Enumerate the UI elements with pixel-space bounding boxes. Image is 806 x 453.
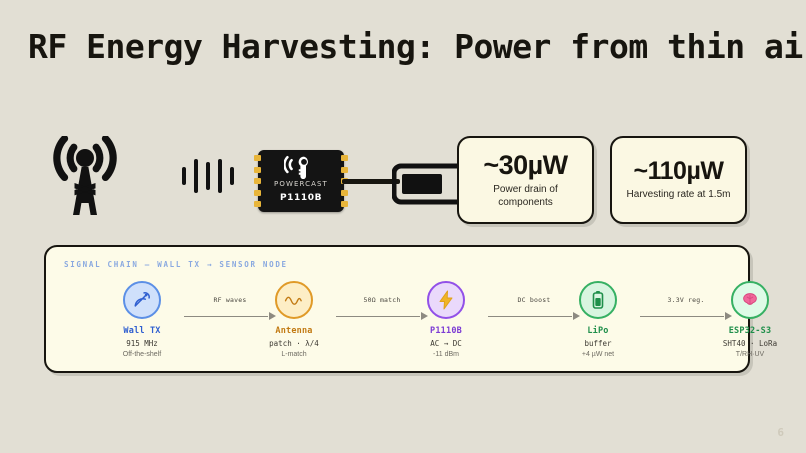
stat-value: ~30µW [483,151,567,179]
powercast-chip: POWERCAST P1110B [258,150,344,212]
hero-illustration: POWERCAST P1110B [40,128,450,238]
signal-chain-panel: SIGNAL CHAIN — WALL TX → SENSOR NODE Wal… [44,245,750,373]
chain-node-sub1: 915 MHz [90,339,194,348]
chain-node-sub2: Off-the-shelf [90,351,194,358]
stat-caption: Power drain of components [469,184,582,209]
chain-node-name: Antenna [242,326,346,336]
chip-brand-label: POWERCAST [258,180,344,188]
chain-node-wall-tx[interactable]: Wall TX 915 MHz Off-the-shelf [90,281,194,358]
chain-node-sub1: SHT40 · LoRa [698,339,802,348]
lightning-bolt-icon [427,281,465,319]
signal-chain-flow: Wall TX 915 MHz Off-the-shelf RF waves A [46,281,748,367]
page-title: RF Energy Harvesting: Power from thin ai… [28,27,806,66]
chain-node-sub2: T/RH·UV [698,351,802,358]
signal-chain-header: SIGNAL CHAIN — WALL TX → SENSOR NODE [64,260,288,269]
battery-cell-icon [579,281,617,319]
chain-node-sub2: -11 dBm [394,351,498,358]
stat-card-power-drain: ~30µW Power drain of components [457,136,594,224]
page-number: 6 [777,426,784,439]
stat-card-harvesting-rate: ~110µW Harvesting rate at 1.5m [610,136,747,224]
microchip-brain-icon [731,281,769,319]
chain-node-name: LiPo [546,326,650,336]
rf-waves-icon [180,156,236,201]
chain-node-p1110b[interactable]: P1110B AC → DC -11 dBm [394,281,498,358]
chain-node-name: P1110B [394,326,498,336]
stat-value: ~110µW [634,158,724,184]
chain-node-sub1: AC → DC [394,339,498,348]
slide-root: RF Energy Harvesting: Power from thin ai… [0,0,806,453]
chain-node-name: Wall TX [90,326,194,336]
stat-caption: Harvesting rate at 1.5m [627,189,731,202]
chain-node-lipo[interactable]: LiPo buffer +4 µW net [546,281,650,358]
chain-node-sub1: patch · λ/4 [242,339,346,348]
chain-node-sub1: buffer [546,339,650,348]
chain-node-esp32-s3[interactable]: ESP32-S3 SHT40 · LoRa T/RH·UV [698,281,802,358]
chain-node-sub2: +4 µW net [546,351,650,358]
waveform-icon [275,281,313,319]
chip-part-label: P1110B [258,193,344,203]
chain-node-name: ESP32-S3 [698,326,802,336]
satellite-dish-icon [123,281,161,319]
broadcast-tower-icon [46,136,124,221]
chain-node-antenna[interactable]: Antenna patch · λ/4 L-match [242,281,346,358]
chain-node-sub2: L-match [242,351,346,358]
